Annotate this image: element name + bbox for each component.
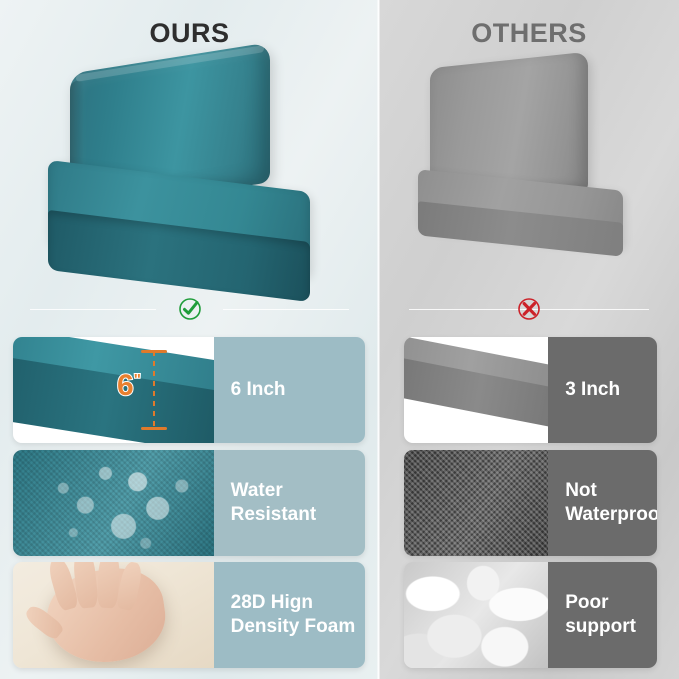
- others-feature-card-water: Not Waterproof: [404, 450, 657, 556]
- check-circle-icon: [177, 296, 203, 322]
- ours-foam-image: [13, 562, 214, 668]
- others-mesh-image: [404, 450, 548, 556]
- label-line-2: Waterproof: [565, 503, 657, 527]
- others-thickness-label: 3 Inch: [548, 337, 657, 443]
- label-line-2: support: [565, 615, 636, 639]
- ours-thickness-label: 6 Inch: [214, 337, 365, 443]
- label-line-1: Not: [565, 479, 657, 503]
- others-fiber-image: [404, 562, 548, 668]
- others-badge-row: [379, 296, 679, 322]
- dimension-line: [153, 351, 155, 429]
- others-support-label: Poor support: [548, 562, 657, 668]
- ours-feature-card-foam: 28D Hign Density Foam: [13, 562, 365, 668]
- rule-left: [30, 309, 156, 310]
- label-line-1: Water: [231, 479, 317, 503]
- comparison-infographic: OURS OTHERS: [0, 0, 679, 679]
- thickness-callout: 6": [117, 369, 141, 403]
- others-feature-card-thickness: 3 Inch: [404, 337, 657, 443]
- ours-water-image: [13, 450, 214, 556]
- label-line-2: Density Foam: [231, 615, 356, 639]
- column-divider: [377, 0, 380, 679]
- cross-circle-icon: [516, 296, 542, 322]
- ours-thickness-image: 6": [13, 337, 214, 443]
- label-line-1: 3 Inch: [565, 378, 620, 402]
- ours-product-image: [48, 58, 338, 293]
- ours-badge-row: [0, 296, 379, 322]
- teal-cushion-slab: [13, 343, 214, 439]
- label-line-2: Resistant: [231, 503, 317, 527]
- others-thickness-image: [404, 337, 548, 443]
- others-feature-card-support: Poor support: [404, 562, 657, 668]
- ours-title: OURS: [0, 18, 379, 49]
- thickness-callout-value: 6: [117, 369, 134, 402]
- label-line-1: 6 Inch: [231, 378, 286, 402]
- others-title: OTHERS: [379, 18, 679, 49]
- thickness-callout-unit: ": [134, 371, 141, 388]
- label-line-1: Poor: [565, 591, 636, 615]
- others-water-label: Not Waterproof: [548, 450, 657, 556]
- ours-feature-card-thickness: 6" 6 Inch: [13, 337, 365, 443]
- ours-foam-label: 28D Hign Density Foam: [214, 562, 365, 668]
- others-product-image: [418, 60, 636, 275]
- dimension-cap-bottom: [141, 427, 167, 430]
- ours-feature-card-water: Water Resistant: [13, 450, 365, 556]
- rule-right: [223, 309, 349, 310]
- label-line-1: 28D Hign: [231, 591, 356, 615]
- ours-water-label: Water Resistant: [214, 450, 365, 556]
